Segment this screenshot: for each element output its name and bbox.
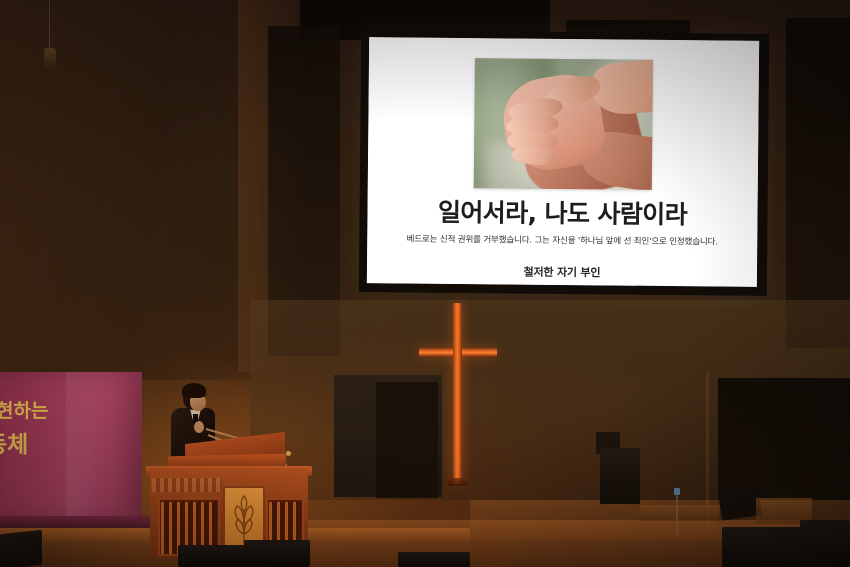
dark-wall-panel-right xyxy=(786,18,850,348)
stage-monitor-left xyxy=(178,545,250,567)
microphone-stand-head-icon xyxy=(674,488,680,495)
preacher-hand xyxy=(194,421,204,433)
left-wall xyxy=(0,0,250,380)
stage-riser xyxy=(640,505,720,521)
banner-text-line2: 동체 xyxy=(0,425,28,459)
stage-equipment-corner xyxy=(800,520,850,567)
sanctuary-scene: 일어서라, 나도 사람이라 베드로는 신적 권위를 거부했습니다. 그는 자신을… xyxy=(0,0,850,567)
pulpit-carved-trim xyxy=(152,478,222,492)
banner-bottom-rail xyxy=(0,516,154,528)
slide-footer: 철저한 자기 부인 xyxy=(524,264,601,281)
handshake-photo xyxy=(474,58,653,190)
projection-screen: 일어서라, 나도 사람이라 베드로는 신적 권위를 거부했습니다. 그는 자신을… xyxy=(359,30,769,296)
slide-title: 일어서라, 나도 사람이라 xyxy=(438,200,687,229)
presentation-slide: 일어서라, 나도 사람이라 베드로는 신적 권위를 거부했습니다. 그는 자신을… xyxy=(367,37,759,287)
banner-text-line1: 현하는 xyxy=(0,396,48,423)
slide-subtitle: 베드로는 신적 권위를 거부했습니다. 그는 자신을 '하나님 앞에 선 죄인'… xyxy=(407,233,718,248)
stage-monitor-right xyxy=(398,552,470,567)
stage-monitor-far-left xyxy=(0,530,42,567)
cross-vertical-beam xyxy=(453,303,462,484)
doorway-opening xyxy=(376,382,438,498)
hanging-lamp-icon xyxy=(44,48,56,70)
cross-base xyxy=(448,478,468,486)
microphone-capsule-1-icon xyxy=(286,451,291,456)
stage-equipment-box xyxy=(600,448,640,504)
microphone-stand-pole xyxy=(676,493,678,535)
banner-sheen xyxy=(66,372,100,522)
hanging-light-wire xyxy=(49,0,50,52)
preacher-hair xyxy=(182,383,206,398)
screen-surface: 일어서라, 나도 사람이라 베드로는 신적 권위를 거부했습니다. 그는 자신을… xyxy=(367,37,759,287)
stage-monitor-center xyxy=(244,540,310,567)
